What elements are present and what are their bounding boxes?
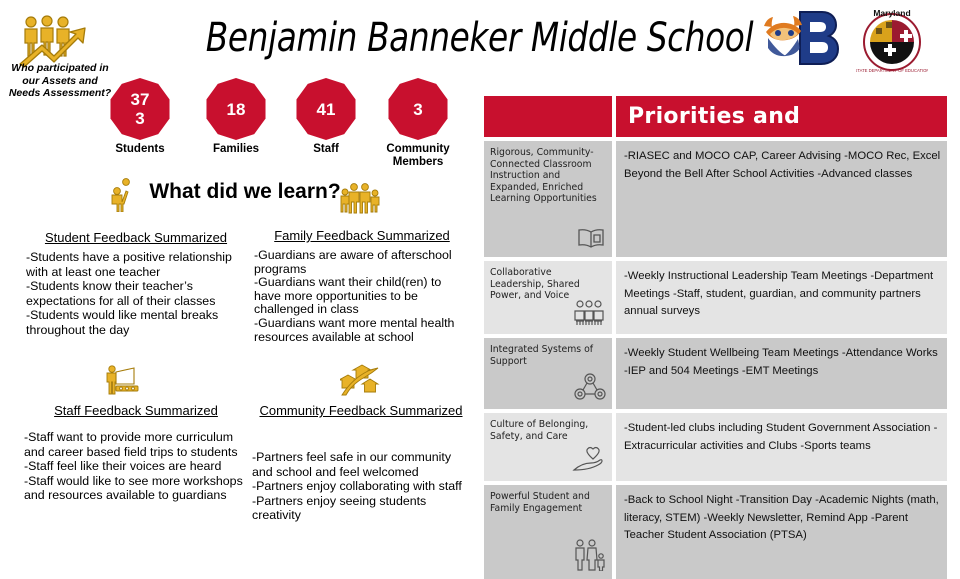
stat-value-line-1: 41 xyxy=(317,100,336,119)
three-people-icon xyxy=(572,300,606,330)
row-items-collaborative-leadership: -Weekly Instructional Leadership Team Me… xyxy=(616,261,947,334)
heart-in-hand-icon xyxy=(572,445,606,477)
stat-value-line-1: 37 xyxy=(131,90,150,109)
priorities-table: Priorities and Opportunities Rigorous, C… xyxy=(484,96,947,579)
row-label-text: Powerful Student and Family Engagement xyxy=(490,491,590,514)
stat-badge-value: 41 xyxy=(295,78,357,140)
stat-badge-value: 3 xyxy=(387,78,449,140)
stat-badge-families: 18 Families xyxy=(188,78,284,156)
table-row: Rigorous, Community-Connected Classroom … xyxy=(484,141,947,257)
table-row: Culture of Belonging, Safety, and Care -… xyxy=(484,413,947,481)
stat-badge-staff: 41 Staff xyxy=(278,78,374,156)
stat-value-line-1: 3 xyxy=(413,100,422,119)
stat-value-line-1: 18 xyxy=(227,100,246,119)
svg-text:Maryland: Maryland xyxy=(873,8,910,18)
row-label-powerful-engagement: Powerful Student and Family Engagement xyxy=(484,485,612,579)
community-feedback-body: -Partners feel safe in our community and… xyxy=(252,450,468,523)
stat-badge-value: 37 3 xyxy=(109,78,171,140)
table-header-row: Priorities and Opportunities xyxy=(484,96,947,137)
stat-badge-label: Students xyxy=(92,143,188,156)
row-label-culture-of-belonging: Culture of Belonging, Safety, and Care xyxy=(484,413,612,481)
network-nodes-icon xyxy=(574,373,606,405)
table-row: Collaborative Leadership, Shared Power, … xyxy=(484,261,947,334)
banneker-bobcat-b-logo xyxy=(760,8,844,74)
row-items-rigorous-instruction: -RIASEC and MOCO CAP, Career Advising -M… xyxy=(616,141,947,257)
person-raising-hand-icon xyxy=(106,178,134,212)
stat-badge-community-members: 3 Community Members xyxy=(370,78,466,169)
row-items-integrated-systems: -Weekly Student Wellbeing Team Meetings … xyxy=(616,338,947,409)
row-label-integrated-systems: Integrated Systems of Support xyxy=(484,338,612,409)
table-row: Powerful Student and Family Engagement -… xyxy=(484,485,947,579)
student-feedback-body: -Students have a positive relationship w… xyxy=(26,250,248,338)
neighborhood-houses-icon xyxy=(340,363,384,397)
page-title: Benjamin Banneker Middle School xyxy=(206,8,714,70)
table-header-left-blank xyxy=(484,96,612,137)
community-feedback-title: Community Feedback Summarized xyxy=(250,403,472,418)
family-feedback-body: -Guardians are aware of afterschool prog… xyxy=(254,249,470,344)
row-label-text: Collaborative Leadership, Shared Power, … xyxy=(490,267,580,301)
row-label-text: Integrated Systems of Support xyxy=(490,344,593,367)
parent-and-child-icon xyxy=(572,539,606,575)
stat-badge-value: 18 xyxy=(205,78,267,140)
maryland-state-department-of-education-seal: Maryland STATE DEPARTMENT OF EDUCATION xyxy=(856,8,928,74)
family-group-icon xyxy=(338,182,380,214)
stat-badge-label: Families xyxy=(188,143,284,156)
staff-feedback-title: Staff Feedback Summarized xyxy=(30,403,242,418)
stat-badge-label: Community Members xyxy=(370,143,466,169)
teacher-at-whiteboard-icon xyxy=(104,364,146,398)
open-book-icon xyxy=(576,227,606,253)
row-items-culture-of-belonging: -Student-led clubs including Student Gov… xyxy=(616,413,947,481)
row-label-collaborative-leadership: Collaborative Leadership, Shared Power, … xyxy=(484,261,612,334)
table-header-title: Priorities and Opportunities xyxy=(616,96,947,137)
what-did-we-learn-heading: What did we learn? xyxy=(140,180,350,204)
stat-badge-label: Staff xyxy=(278,143,374,156)
stat-value-line-2: 3 xyxy=(135,109,144,128)
row-label-rigorous-instruction: Rigorous, Community-Connected Classroom … xyxy=(484,141,612,257)
svg-text:STATE DEPARTMENT OF EDUCATION: STATE DEPARTMENT OF EDUCATION xyxy=(856,68,928,73)
staff-feedback-body: -Staff want to provide more curriculum a… xyxy=(24,430,252,503)
student-feedback-title: Student Feedback Summarized xyxy=(30,230,242,245)
stat-badge-students: 37 3 Students xyxy=(92,78,188,156)
family-feedback-title: Family Feedback Summarized xyxy=(258,228,466,243)
row-items-powerful-engagement: -Back to School Night -Transition Day -A… xyxy=(616,485,947,579)
row-label-text: Culture of Belonging, Safety, and Care xyxy=(490,419,588,442)
table-row: Integrated Systems of Support -Weekly St… xyxy=(484,338,947,409)
row-label-text: Rigorous, Community-Connected Classroom … xyxy=(490,147,597,204)
